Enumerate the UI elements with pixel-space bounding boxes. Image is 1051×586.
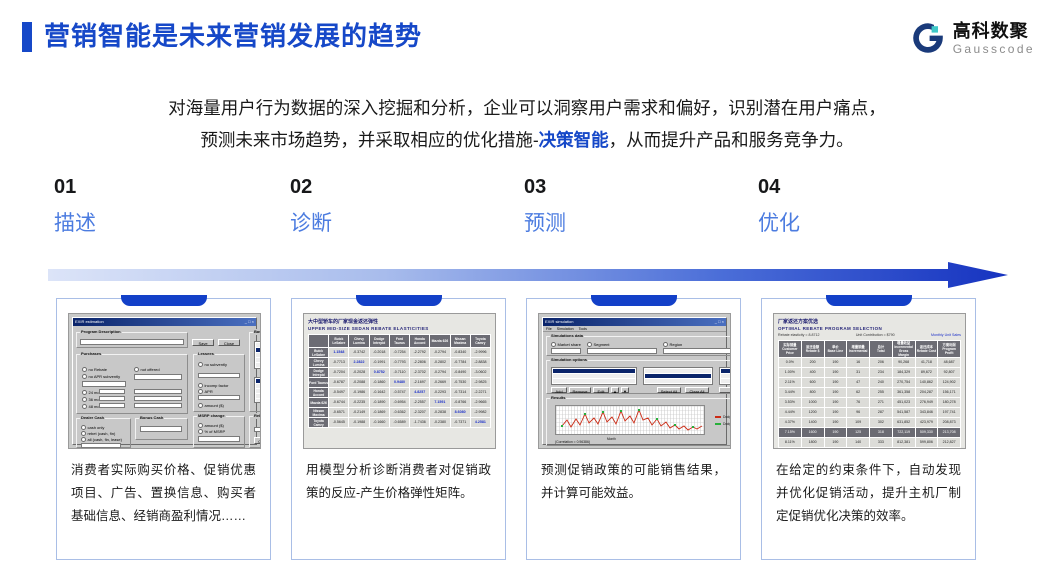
- matrix-title-en: UPPER MID-SIZE SEDAN REBATE ELASTICITIES: [308, 326, 491, 332]
- metrics-listbox[interactable]: [719, 367, 731, 385]
- matrix-cell: -0.7204: [329, 368, 349, 378]
- optimal-cell: 7.15%: [779, 428, 802, 438]
- market-share-select[interactable]: [551, 348, 581, 354]
- group-dealer-cash: Dealer Cash cash only rebet (cash, fin) …: [76, 418, 131, 448]
- optimal-cell: 76: [847, 398, 870, 408]
- region-listbox[interactable]: [254, 377, 261, 403]
- optimal-cell: 204,287: [915, 388, 938, 398]
- card-optimize[interactable]: 厂家返还方案优选 OPTIMAL REBATE PROGRAM SELECTIO…: [761, 298, 976, 560]
- apr-value-input[interactable]: [134, 374, 182, 380]
- menu-file[interactable]: File: [546, 326, 552, 331]
- window-controls: _ □ ×: [715, 318, 724, 326]
- window-titlebar: EXIR estimation _ □ ×: [73, 318, 256, 326]
- optimal-cell: 89,672: [915, 368, 938, 378]
- matrix-cell: -0.1988: [349, 418, 369, 428]
- optimal-title-cn: 厂家返还方案优选: [778, 319, 961, 326]
- optimal-col-header: 单价Base Line: [824, 341, 847, 358]
- table-row: 3.53%100019076271451,023276,949180,278: [779, 398, 961, 408]
- table-row: 0.0%2001901620690,26841,71848,687: [779, 358, 961, 368]
- move-down-button[interactable]: ▼: [621, 387, 629, 393]
- optimal-cell: 208,873: [938, 418, 961, 428]
- optimal-cell: 722,119: [892, 428, 915, 438]
- optimal-cell: 599,806: [915, 438, 938, 448]
- table-row: 9.11%2000190156349902,648697,798204,881: [779, 448, 961, 450]
- matrix-cell: -0.5747: [389, 388, 409, 398]
- optimal-cell: 9.11%: [779, 448, 802, 450]
- optimal-cell: 270,754: [892, 378, 915, 388]
- scenario-listbox[interactable]: [551, 367, 637, 385]
- matrix-cell: -0.8766: [450, 398, 470, 408]
- optimal-cell: 190: [824, 358, 847, 368]
- optimal-col-header: 增量收益IncrementalGross Margin: [892, 341, 915, 358]
- region-select[interactable]: [663, 348, 731, 354]
- optimal-cell: 1000: [801, 398, 824, 408]
- matrix-row-header: Toyota Camry: [309, 418, 329, 428]
- group-label: Bonus Cash: [139, 415, 164, 421]
- optimal-cell: 124,902: [938, 378, 961, 388]
- optimal-cell: 400: [801, 368, 824, 378]
- group-msrp-change: MSRP change amount ($) % of MSRP: [193, 416, 245, 448]
- matrix-cell: -0.6571: [329, 408, 349, 418]
- legend-item-actual: Dodge Dakota actual: [715, 422, 731, 426]
- matrix-col-header: Buick LeSabre: [329, 335, 349, 348]
- card-screenshot-elasticity: 大中型轿车的厂家现金返还弹性 UPPER MID-SIZE SEDAN REBA…: [303, 313, 496, 449]
- optimal-cell: 234: [870, 368, 893, 378]
- card-diagnose[interactable]: 大中型轿车的厂家现金返还弹性 UPPER MID-SIZE SEDAN REBA…: [291, 298, 506, 560]
- window-body: Program Description Save Close Purchases…: [73, 326, 256, 449]
- matrix-row-header: Ford Taurus: [309, 378, 329, 388]
- card-tab-indicator: [826, 295, 912, 306]
- optimal-cell: 92,807: [938, 368, 961, 378]
- radio-incomp[interactable]: incomp factor: [198, 383, 229, 388]
- table-row: Chevy Lumina-0.77132.2822-0.1991-0.7793-…: [309, 358, 491, 368]
- table-row: 4.37%1400190109302631,852423,979208,873: [779, 418, 961, 428]
- matrix-cell: -0.6589: [389, 418, 409, 428]
- matrix-cell: 4.2581: [470, 418, 490, 428]
- card-describe[interactable]: EXIR estimation _ □ × Program Descriptio…: [56, 298, 271, 560]
- logo-text-en: Gausscode: [953, 43, 1035, 55]
- label-market-share: Market share: [551, 342, 581, 347]
- step-label: 诊断: [290, 207, 510, 241]
- lead-line-2-after: ，从而提升产品和服务竞争力。: [609, 130, 854, 150]
- optimal-cell: 343,846: [915, 408, 938, 418]
- optimal-cell: 1200: [801, 408, 824, 418]
- table-row: Nissan Maxima-0.6571-0.2149-0.1869-0.636…: [309, 408, 491, 418]
- matrix-cell: -0.1642: [369, 388, 389, 398]
- term-48-input[interactable]: [99, 403, 125, 408]
- rebate-model-select[interactable]: [254, 427, 261, 432]
- optimal-cell: 1400: [801, 418, 824, 428]
- matrix-row-header: Buick LeSabre: [309, 348, 329, 358]
- optimal-cell: 206: [870, 358, 893, 368]
- label-segment: Segment: [587, 342, 610, 347]
- optimal-cell: 276,949: [915, 398, 938, 408]
- program-description-input[interactable]: [80, 339, 184, 345]
- meta-unit-sales: Monthly Unit Sales: [931, 332, 961, 338]
- optimal-cell: 361,358: [892, 388, 915, 398]
- matrix-col-header: Chevy Lumina: [349, 335, 369, 348]
- matrix-cell: -3.0602: [470, 368, 490, 378]
- add-button[interactable]: Add: [551, 387, 567, 393]
- matrix-cell: -2.2806: [410, 358, 430, 368]
- slide: 营销智能是未来营销发展的趋势 高科数聚 Gausscode 对海量用户行为数据的…: [0, 0, 1051, 586]
- matrix-cell: -0.2380: [430, 418, 450, 428]
- radio-amount-dollar[interactable]: amount ($): [198, 423, 224, 428]
- step-number: 01: [54, 175, 274, 199]
- group-simulations-data: Simulations data Market share Segment Re…: [546, 336, 731, 356]
- matrix-cell: -0.7793: [389, 358, 409, 368]
- step-label: 优化: [758, 207, 978, 241]
- optimal-cell: 423,979: [915, 418, 938, 428]
- move-up-button[interactable]: ▲: [611, 387, 619, 393]
- card-predict[interactable]: EXIR simulation _ □ × File Simulation To…: [526, 298, 741, 560]
- radio-all[interactable]: all (cash, fin, lease): [81, 437, 122, 442]
- matrix-cell: -0.2235: [349, 398, 369, 408]
- optimal-cell: 902,648: [892, 448, 915, 450]
- model-listbox[interactable]: [254, 341, 261, 369]
- table-row: 3.44%80019062255361,358204,287156,171: [779, 388, 961, 398]
- optimal-col-header: 实际销量Customer Price: [779, 341, 802, 358]
- table-row: Toyota Camry-0.5645-0.1988-0.1660-0.6589…: [309, 418, 491, 428]
- matrix-cell: -0.5645: [329, 418, 349, 428]
- matrix-cell: -2.2557: [410, 398, 430, 408]
- matrix-cell: -0.7784: [450, 358, 470, 368]
- matrix-cell: -2.9825: [470, 378, 490, 388]
- label-region: Region: [663, 342, 682, 347]
- matrix-row-header: Honda Accord: [309, 388, 329, 398]
- optimal-cell: 240: [870, 378, 893, 388]
- group-simulation-options: Simulation options Add Remove Edit ▲ ▼ S…: [546, 360, 731, 394]
- optimal-cell: 47: [847, 378, 870, 388]
- dealer-cash-select[interactable]: [81, 443, 121, 448]
- group-results: Results: [546, 398, 731, 446]
- card-tab-indicator: [356, 295, 442, 306]
- progress-arrow: [48, 262, 1008, 288]
- optimal-cell: 212,827: [938, 438, 961, 448]
- group-lessees: Lessees no subvently incomp factor APR a…: [193, 354, 245, 412]
- matrix-cell: -0.7254: [389, 348, 409, 358]
- matrix-cell: -2.3702: [410, 368, 430, 378]
- matrix-cell: -0.1986: [349, 388, 369, 398]
- matrix-col-header: Dodge Intrepid: [369, 335, 389, 348]
- group-label: Lessees: [197, 351, 215, 357]
- group-bonus-cash: Bonus Cash: [135, 418, 188, 440]
- matrix-cell: -0.6954: [389, 398, 409, 408]
- chart-xlabel: Month: [607, 437, 616, 441]
- optimal-cell: 812,381: [892, 438, 915, 448]
- optimal-cell: 125: [847, 428, 870, 438]
- optimal-cell: 271: [870, 398, 893, 408]
- optimal-cell: 541,587: [892, 408, 915, 418]
- optimal-cell: 0.0%: [779, 358, 802, 368]
- lessee-cash-select[interactable]: [198, 373, 240, 378]
- optimal-cell: 1.00%: [779, 368, 802, 378]
- matrix-col-header: Mazda 626: [430, 335, 450, 348]
- optimal-cell: 31: [847, 368, 870, 378]
- matrix-row-header: Chevy Lumina: [309, 358, 329, 368]
- segment-select[interactable]: [587, 348, 657, 354]
- step-number: 04: [758, 175, 978, 199]
- matrix-cell: -0.2669: [430, 378, 450, 388]
- optimal-cell: 1800: [801, 438, 824, 448]
- window-title: EXIR simulation: [545, 318, 573, 326]
- clear-button[interactable]: Clear: [254, 437, 261, 444]
- card-screenshot-optimal: 厂家返还方案优选 OPTIMAL REBATE PROGRAM SELECTIO…: [773, 313, 966, 449]
- legend-swatch-green: [715, 423, 721, 425]
- radio-cash-only[interactable]: cash only: [81, 425, 104, 430]
- optimal-cell: 697,798: [915, 448, 938, 450]
- matrix-cell: 8.6080: [450, 408, 470, 418]
- matrix-cell: -0.7530: [450, 378, 470, 388]
- radio-pct-msrp[interactable]: % of MSRP: [198, 429, 225, 434]
- optimal-cell: 333: [870, 438, 893, 448]
- table-row: Mazda 626-0.6744-0.2235-0.1890-0.6954-2.…: [309, 398, 491, 408]
- matrix-col-header: Honda Accord: [410, 335, 430, 348]
- lead-accent-term: 决策智能: [539, 130, 609, 150]
- lead-line-2: 预测未来市场趋势，并采取相应的优化措施-决策智能，从而提升产品和服务竞争力。: [52, 124, 1002, 156]
- matrix-cell: -0.3742: [349, 348, 369, 358]
- matrix-cell: -0.2794: [430, 348, 450, 358]
- radio-apr[interactable]: APR: [198, 389, 213, 394]
- matrix-cell: -0.7314: [450, 388, 470, 398]
- row-label-24: 24 mo.: [82, 390, 101, 395]
- optimal-cell: 140,862: [915, 378, 938, 388]
- rate-input[interactable]: [198, 395, 240, 400]
- optimal-cell: 62: [847, 388, 870, 398]
- card-caption: 消费者实际购买价格、促销优惠项目、广告、置换信息、购买者基础信息、经销商盈利情况…: [71, 459, 256, 528]
- matrix-cell: -2.9665: [470, 398, 490, 408]
- group-label: Program Description: [80, 329, 122, 335]
- bonus-cash-input[interactable]: [140, 426, 182, 432]
- group-base-incentives: Base incentives Select All Clear All Sel…: [249, 332, 261, 412]
- step-list: 01 描述 02 诊断 03 预测 04 优化: [0, 175, 1051, 255]
- optimal-cell: 204,881: [938, 448, 961, 450]
- optimal-col-header: 返还金额Rebate $: [801, 341, 824, 358]
- matrix-cell: 0.9480: [389, 378, 409, 388]
- matrix-cell: -2.3207: [410, 408, 430, 418]
- matrix-cell: -0.2088: [349, 378, 369, 388]
- table-row: 4.44%120019096287541,587343,846197,741: [779, 408, 961, 418]
- matrix-cell: -0.7713: [329, 358, 349, 368]
- group-label: Simulation options: [550, 357, 588, 363]
- term-36-rate-select[interactable]: [134, 396, 182, 401]
- matrix-cell: -0.8340: [450, 348, 470, 358]
- matrix-cell: 7.1591: [430, 398, 450, 408]
- term-36-input[interactable]: [99, 396, 125, 401]
- group-purchases: Purchases no Rebate no APR subvently not…: [76, 354, 188, 414]
- table-row: Dodge Intrepid-0.7204-0.20280.8752-0.711…: [309, 368, 491, 378]
- edit-button[interactable]: Edit: [593, 387, 609, 393]
- window-title: EXIR estimation: [75, 318, 104, 326]
- optimal-cell: 90,268: [892, 358, 915, 368]
- matrix-cell: -2.2792: [410, 348, 430, 358]
- optimal-cell: 255: [870, 388, 893, 398]
- radio-no-subvently[interactable]: no subvently: [198, 362, 227, 367]
- row-label-36: 36 mo.: [82, 397, 101, 402]
- logo-text-cn: 高科数聚: [953, 22, 1035, 40]
- matrix-cell: -0.2149: [349, 408, 369, 418]
- optimal-cell: 190: [824, 428, 847, 438]
- group-label: Purchases: [80, 351, 102, 357]
- optimal-col-header: 方案利润Program Profit: [938, 341, 961, 358]
- optimal-cell: 190: [824, 378, 847, 388]
- matrix-cell: -0.6744: [329, 398, 349, 408]
- matrix-cell: -2.8838: [470, 358, 490, 368]
- matrix-cell: -2.1697: [410, 378, 430, 388]
- optimal-cell: 109: [847, 418, 870, 428]
- correlation-footer: (Correlation = 0.96386): [555, 440, 590, 444]
- card-screenshot-simulation: EXIR simulation _ □ × File Simulation To…: [538, 313, 731, 449]
- optimal-cell: 1600: [801, 428, 824, 438]
- group-label: Rebates incentives: [253, 413, 261, 419]
- legend-label: Dodge Dakota actual: [723, 422, 731, 426]
- matrix-cell: -1.7436: [410, 418, 430, 428]
- term-48-rate-select[interactable]: [134, 403, 182, 408]
- optimal-cell: 287: [870, 408, 893, 418]
- menu-simulation[interactable]: Simulation: [557, 326, 574, 331]
- optimal-cell: 96: [847, 408, 870, 418]
- group-label: Simulations data: [550, 333, 584, 339]
- matrix-corner: [309, 335, 329, 348]
- rebate-value-input[interactable]: [82, 381, 126, 387]
- matrix-cell: -0.7371: [450, 418, 470, 428]
- optimal-cell: 451,023: [892, 398, 915, 408]
- matrix-cell: 1.1548: [329, 348, 349, 358]
- term-24-rate-select[interactable]: [134, 389, 182, 394]
- optimal-rebate-table: 实际销量Customer Price返还金额Rebate $单价Base Lin…: [778, 340, 961, 449]
- optimal-cell: 190: [824, 368, 847, 378]
- optimal-col-header: 增量销量Incremental: [847, 341, 870, 358]
- optimal-col-header: 总计Total: [870, 341, 893, 358]
- elasticity-matrix-table: Buick LeSabreChevy LuminaDodge IntrepidF…: [308, 334, 491, 428]
- optimal-cell: 180,278: [938, 398, 961, 408]
- optimal-cell: 48,687: [938, 358, 961, 368]
- card-caption: 在给定的约束条件下，自动发现并优化促销活动，提升主机厂制定促销优化决策的效率。: [776, 459, 961, 528]
- optimal-cell: 3.53%: [779, 398, 802, 408]
- group-rebates-incentives: Rebates incentives Clear Restore current…: [249, 416, 261, 448]
- matrix-cell: -0.2802: [430, 358, 450, 368]
- matrix-cell: -0.5497: [329, 388, 349, 398]
- optimal-cell: 318: [870, 428, 893, 438]
- card-tab-indicator: [591, 295, 677, 306]
- radio-amount[interactable]: amount ($): [198, 403, 224, 408]
- step-number: 03: [524, 175, 744, 199]
- matrix-row-header: Dodge Intrepid: [309, 368, 329, 378]
- optimal-cell: 156,171: [938, 388, 961, 398]
- matrix-cell: -0.8490: [450, 368, 470, 378]
- matrix-col-header: Toyota Camry: [470, 335, 490, 348]
- matrix-cell: -0.7110: [389, 368, 409, 378]
- optimal-cell: 190: [824, 398, 847, 408]
- close-button[interactable]: Close: [218, 339, 240, 346]
- optimal-cell: 16: [847, 358, 870, 368]
- optimal-cell: 190: [824, 438, 847, 448]
- window-body: Simulations data Market share Segment Re…: [543, 332, 726, 448]
- step-label: 描述: [54, 207, 274, 241]
- step-04: 04 优化: [758, 175, 978, 241]
- matrix-cell: -0.2018: [369, 348, 389, 358]
- card-tab-indicator: [121, 295, 207, 306]
- matrix-cell: 0.8752: [369, 368, 389, 378]
- matrix-row-header: Mazda 626: [309, 398, 329, 408]
- optimal-cell: 4.44%: [779, 408, 802, 418]
- meta-elasticity: Rebate elasticity = 8.8712: [778, 332, 819, 338]
- optimal-cell: 2.11%: [779, 378, 802, 388]
- graph-button[interactable]: Graph: [719, 387, 731, 393]
- matrix-cell: -0.2028: [349, 368, 369, 378]
- radio-no-apr[interactable]: no APR subvently: [82, 374, 120, 379]
- msrp-change-input[interactable]: [198, 436, 240, 442]
- group-program-description: Program Description: [76, 332, 188, 348]
- card-row: EXIR estimation _ □ × Program Descriptio…: [0, 298, 1051, 568]
- window-controls: _ □ ×: [245, 318, 254, 326]
- optimal-cell: 200: [801, 358, 824, 368]
- matrix-cell: -0.1660: [369, 418, 389, 428]
- optimal-cell: 213,708: [938, 428, 961, 438]
- select-all-button[interactable]: Select All: [657, 387, 681, 393]
- optimal-cell: 41,718: [915, 358, 938, 368]
- group-label: Results: [550, 395, 566, 401]
- table-row: Honda Accord-0.5497-0.1986-0.1642-0.5747…: [309, 388, 491, 398]
- matrix-cell: -0.2293: [430, 388, 450, 398]
- radio-rebet[interactable]: rebet (cash, fin): [81, 431, 115, 436]
- matrix-cell: -0.1991: [369, 358, 389, 368]
- radio-not-offered[interactable]: not offered: [134, 367, 160, 372]
- card-caption: 用模型分析诊断消费者对促销政策的反应-产生价格弹性矩阵。: [306, 459, 491, 505]
- step-02: 02 诊断: [290, 175, 510, 241]
- optimal-cell: 197,741: [938, 408, 961, 418]
- group-label: Base incentives: [253, 329, 261, 335]
- matrix-col-header: Nissan Maxima: [450, 335, 470, 348]
- matrix-cell: -0.2794: [430, 368, 450, 378]
- table-row: 8.11%1800190140333812,381599,806212,827: [779, 438, 961, 448]
- matrix-cell: -2.9996: [470, 348, 490, 358]
- page-title: 营销智能是未来营销发展的趋势: [44, 18, 422, 54]
- matrix-cell: -2.9982: [470, 408, 490, 418]
- optimal-meta-row: Rebate elasticity = 8.8712 Unit Contribu…: [778, 332, 961, 338]
- optimal-cell: 800: [801, 388, 824, 398]
- gausscode-logo-icon: [910, 20, 946, 56]
- card-caption: 预测促销政策的可能销售结果，并计算可能效益。: [541, 459, 726, 505]
- step-03: 03 预测: [524, 175, 744, 241]
- matrix-cell: 2.2822: [349, 358, 369, 368]
- table-row: 2.11%60019047240270,754140,862124,902: [779, 378, 961, 388]
- optimal-cell: 190: [824, 418, 847, 428]
- save-button[interactable]: Save: [192, 339, 214, 346]
- clear-all-button[interactable]: Clear All: [685, 387, 709, 393]
- matrix-col-header: Ford Taurus: [389, 335, 409, 348]
- title-accent-bar: [22, 22, 32, 52]
- lead-line-1: 对海量用户行为数据的深入挖掘和分析，企业可以洞察用户需求和偏好，识别潜在用户痛点…: [52, 92, 1002, 124]
- matrix-cell: -0.1860: [369, 378, 389, 388]
- remove-button[interactable]: Remove: [569, 387, 591, 393]
- simulation-line-chart: [555, 405, 705, 435]
- step-label: 预测: [524, 207, 744, 241]
- matrix-cell: 4.8257: [410, 388, 430, 398]
- term-24-input[interactable]: [99, 389, 125, 394]
- model-listbox[interactable]: [643, 367, 713, 385]
- matrix-cell: -0.6787: [329, 378, 349, 388]
- brand-logo: 高科数聚 Gausscode: [910, 14, 1035, 62]
- lead-paragraph: 对海量用户行为数据的深入挖掘和分析，企业可以洞察用户需求和偏好，识别潜在用户痛点…: [52, 92, 1002, 156]
- card-screenshot-dialog: EXIR estimation _ □ × Program Descriptio…: [68, 313, 261, 449]
- matrix-cell: -0.1890: [369, 398, 389, 408]
- menu-tools[interactable]: Tools: [579, 326, 587, 331]
- optimal-cell: 190: [824, 408, 847, 418]
- table-row: Buick LeSabre1.1548-0.3742-0.2018-0.7254…: [309, 348, 491, 358]
- radio-no-rebate[interactable]: no Rebate: [82, 367, 107, 372]
- table-row: 7.15%1600190125318722,119509,330213,708: [779, 428, 961, 438]
